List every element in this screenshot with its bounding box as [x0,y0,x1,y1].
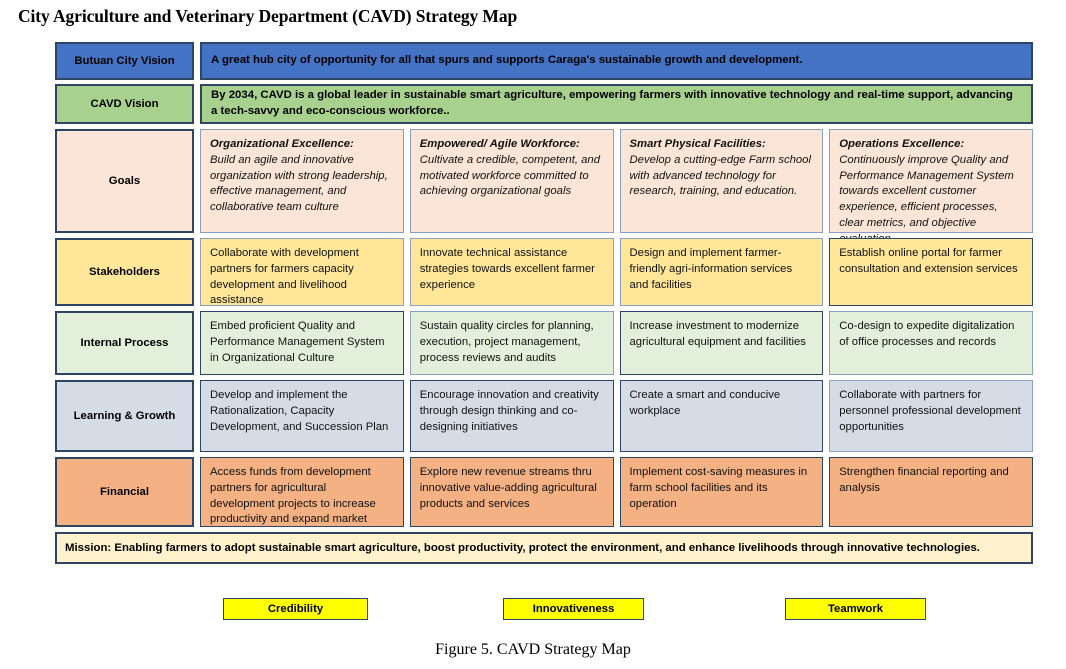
core-values-row: Credibility Innovativeness Teamwork [55,598,1033,620]
row-butuan-city-vision: Butuan City Vision A great hub city of o… [55,42,1033,80]
value-badge-innovativeness[interactable]: Innovativeness [503,598,644,620]
row-label-cavd-vision: CAVD Vision [55,84,194,124]
goals-cell-3: Smart Physical Facilities: Develop a cut… [620,129,824,233]
row-label-goals: Goals [55,129,194,233]
internal-process-cell-4: Co-design to expedite digitalization of … [829,311,1033,375]
row-label-financial: Financial [55,457,194,527]
row-label-stakeholders: Stakeholders [55,238,194,306]
value-badge-credibility[interactable]: Credibility [223,598,368,620]
row-financial: Financial Access funds from development … [55,457,1033,527]
row-label-internal-process: Internal Process [55,311,194,375]
internal-process-cell-3: Increase investment to modernize agricul… [620,311,824,375]
learning-growth-cell-1: Develop and implement the Rationalizatio… [200,380,404,452]
goals-cell-2-text: Cultivate a credible, competent, and mot… [420,153,604,200]
row-content-learning-growth: Develop and implement the Rationalizatio… [200,380,1033,452]
stakeholders-cell-3: Design and implement farmer-friendly agr… [620,238,824,306]
row-label-learning-growth: Learning & Growth [55,380,194,452]
row-content-goals: Organizational Excellence: Build an agil… [200,129,1033,233]
stakeholders-cell-4: Establish online portal for farmer consu… [829,238,1033,306]
financial-cell-2: Explore new revenue streams thru innovat… [410,457,614,527]
learning-growth-cell-4: Collaborate with partners for personnel … [829,380,1033,452]
page-title: City Agriculture and Veterinary Departme… [18,6,517,27]
goals-cell-1-text: Build an agile and innovative organizati… [210,153,394,216]
internal-process-cell-1: Embed proficient Quality and Performance… [200,311,404,375]
stakeholders-cell-2: Innovate technical assistance strategies… [410,238,614,306]
row-content-internal-process: Embed proficient Quality and Performance… [200,311,1033,375]
goals-cell-4-text: Continuously improve Quality and Perform… [839,153,1023,248]
learning-growth-cell-3: Create a smart and conducive workplace [620,380,824,452]
cavd-vision-statement: By 2034, CAVD is a global leader in sust… [200,84,1033,124]
value-badge-teamwork[interactable]: Teamwork [785,598,926,620]
goals-cell-1: Organizational Excellence: Build an agil… [200,129,404,233]
goals-cell-2-heading: Empowered/ Agile Workforce: [420,137,604,153]
mission-statement: Mission: Enabling farmers to adopt susta… [55,532,1033,564]
row-label-butuan-city-vision: Butuan City Vision [55,42,194,80]
row-goals: Goals Organizational Excellence: Build a… [55,129,1033,233]
financial-cell-3: Implement cost-saving measures in farm s… [620,457,824,527]
financial-cell-4: Strengthen financial reporting and analy… [829,457,1033,527]
stakeholders-cell-1: Collaborate with development partners fo… [200,238,404,306]
row-content-stakeholders: Collaborate with development partners fo… [200,238,1033,306]
figure-caption: Figure 5. CAVD Strategy Map [0,641,1066,659]
financial-cell-1: Access funds from development partners f… [200,457,404,527]
internal-process-cell-2: Sustain quality circles for planning, ex… [410,311,614,375]
goals-cell-2: Empowered/ Agile Workforce: Cultivate a … [410,129,614,233]
strategy-map-grid: Butuan City Vision A great hub city of o… [55,42,1033,594]
goals-cell-3-text: Develop a cutting-edge Farm school with … [630,153,814,200]
row-learning-growth: Learning & Growth Develop and implement … [55,380,1033,452]
row-stakeholders: Stakeholders Collaborate with developmen… [55,238,1033,306]
goals-cell-4-heading: Operations Excellence: [839,137,1023,153]
learning-growth-cell-2: Encourage innovation and creativity thro… [410,380,614,452]
goals-cell-1-heading: Organizational Excellence: [210,137,394,153]
goals-cell-4: Operations Excellence: Continuously impr… [829,129,1033,233]
goals-cell-3-heading: Smart Physical Facilities: [630,137,814,153]
row-content-cavd-vision: By 2034, CAVD is a global leader in sust… [200,84,1033,124]
row-internal-process: Internal Process Embed proficient Qualit… [55,311,1033,375]
row-content-butuan-city-vision: A great hub city of opportunity for all … [200,42,1033,80]
strategy-map-page: City Agriculture and Veterinary Departme… [0,0,1066,669]
row-content-financial: Access funds from development partners f… [200,457,1033,527]
row-cavd-vision: CAVD Vision By 2034, CAVD is a global le… [55,84,1033,124]
butuan-city-vision-statement: A great hub city of opportunity for all … [200,42,1033,80]
